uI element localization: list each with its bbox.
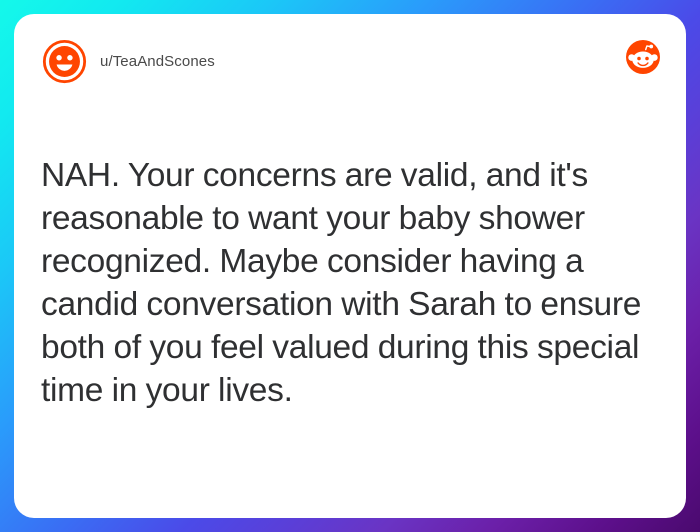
reddit-post-card: u/TeaAndScones NAH. Your concerns are va… <box>14 14 686 518</box>
screenshot-root: u/TeaAndScones NAH. Your concerns are va… <box>0 0 700 532</box>
post-username[interactable]: u/TeaAndScones <box>100 53 215 70</box>
smiley-face-avatar-icon[interactable] <box>42 39 87 84</box>
post-header: u/TeaAndScones <box>42 32 215 90</box>
reddit-snoo-logo-icon[interactable] <box>626 40 660 74</box>
post-body-text: NAH. Your concerns are valid, and it's r… <box>41 154 666 412</box>
